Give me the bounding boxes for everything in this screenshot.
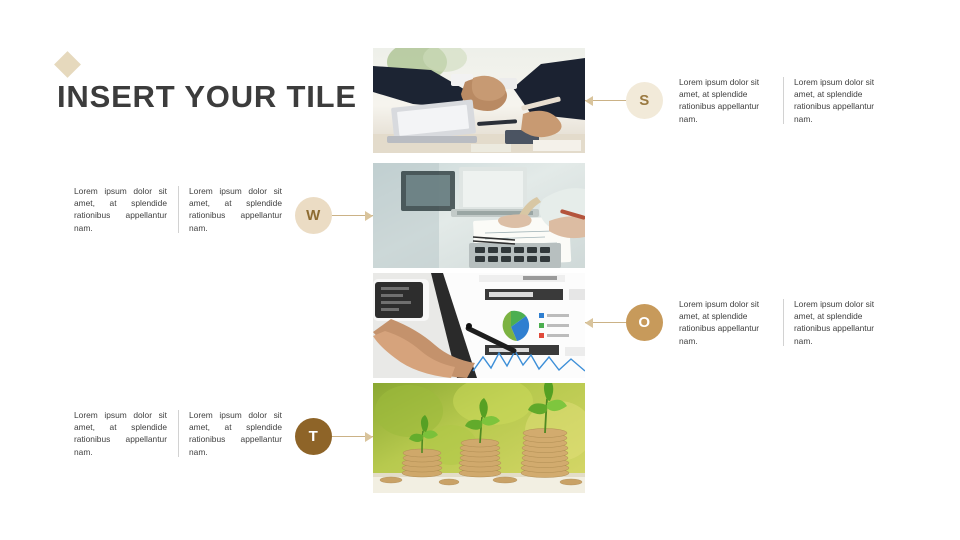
business-handshake-photo bbox=[373, 48, 585, 153]
text-column-t-1: Lorem ipsum dolor sit amet, at splendide… bbox=[74, 409, 167, 458]
laptop-notes-teamwork-photo bbox=[373, 163, 585, 268]
letter-circle-s-label: S bbox=[639, 92, 650, 109]
text-block-s: Lorem ipsum dolor sit amet, at splendide… bbox=[679, 76, 887, 125]
letter-circle-t-label: T bbox=[309, 428, 319, 445]
letter-circle-w[interactable]: W bbox=[295, 197, 332, 234]
letter-circle-s[interactable]: S bbox=[626, 82, 663, 119]
arrow-marker-s-icon bbox=[585, 96, 593, 106]
text-divider bbox=[178, 410, 179, 457]
coin-stacks-growth-photo bbox=[373, 383, 585, 493]
arrow-marker-w-icon bbox=[365, 211, 373, 221]
letter-circle-o[interactable]: O bbox=[626, 304, 663, 341]
text-divider bbox=[178, 186, 179, 233]
text-column-s-2: Lorem ipsum dolor sit amet, at splendide… bbox=[794, 76, 887, 125]
arrow-marker-o-icon bbox=[585, 318, 593, 328]
letter-circle-o-label: O bbox=[638, 314, 650, 331]
presentation-slide: INSERT YOUR TILE bbox=[0, 0, 960, 540]
text-column-w-2: Lorem ipsum dolor sit amet, at splendide… bbox=[189, 185, 282, 234]
text-block-w: Lorem ipsum dolor sit amet, at splendide… bbox=[74, 185, 282, 234]
text-divider bbox=[783, 77, 784, 124]
letter-circle-t[interactable]: T bbox=[295, 418, 332, 455]
text-block-t: Lorem ipsum dolor sit amet, at splendide… bbox=[74, 409, 282, 458]
tablet-analytics-dashboard-photo bbox=[373, 273, 585, 378]
text-column-o-2: Lorem ipsum dolor sit amet, at splendide… bbox=[794, 298, 887, 347]
arrow-marker-t-icon bbox=[365, 432, 373, 442]
text-column-s-1: Lorem ipsum dolor sit amet, at splendide… bbox=[679, 76, 772, 125]
text-divider bbox=[783, 299, 784, 346]
text-column-t-2: Lorem ipsum dolor sit amet, at splendide… bbox=[189, 409, 282, 458]
letter-circle-w-label: W bbox=[306, 207, 321, 224]
diamond-decoration-icon bbox=[54, 51, 81, 78]
text-column-w-1: Lorem ipsum dolor sit amet, at splendide… bbox=[74, 185, 167, 234]
text-column-o-1: Lorem ipsum dolor sit amet, at splendide… bbox=[679, 298, 772, 347]
text-block-o: Lorem ipsum dolor sit amet, at splendide… bbox=[679, 298, 887, 347]
page-title: INSERT YOUR TILE bbox=[57, 79, 357, 115]
